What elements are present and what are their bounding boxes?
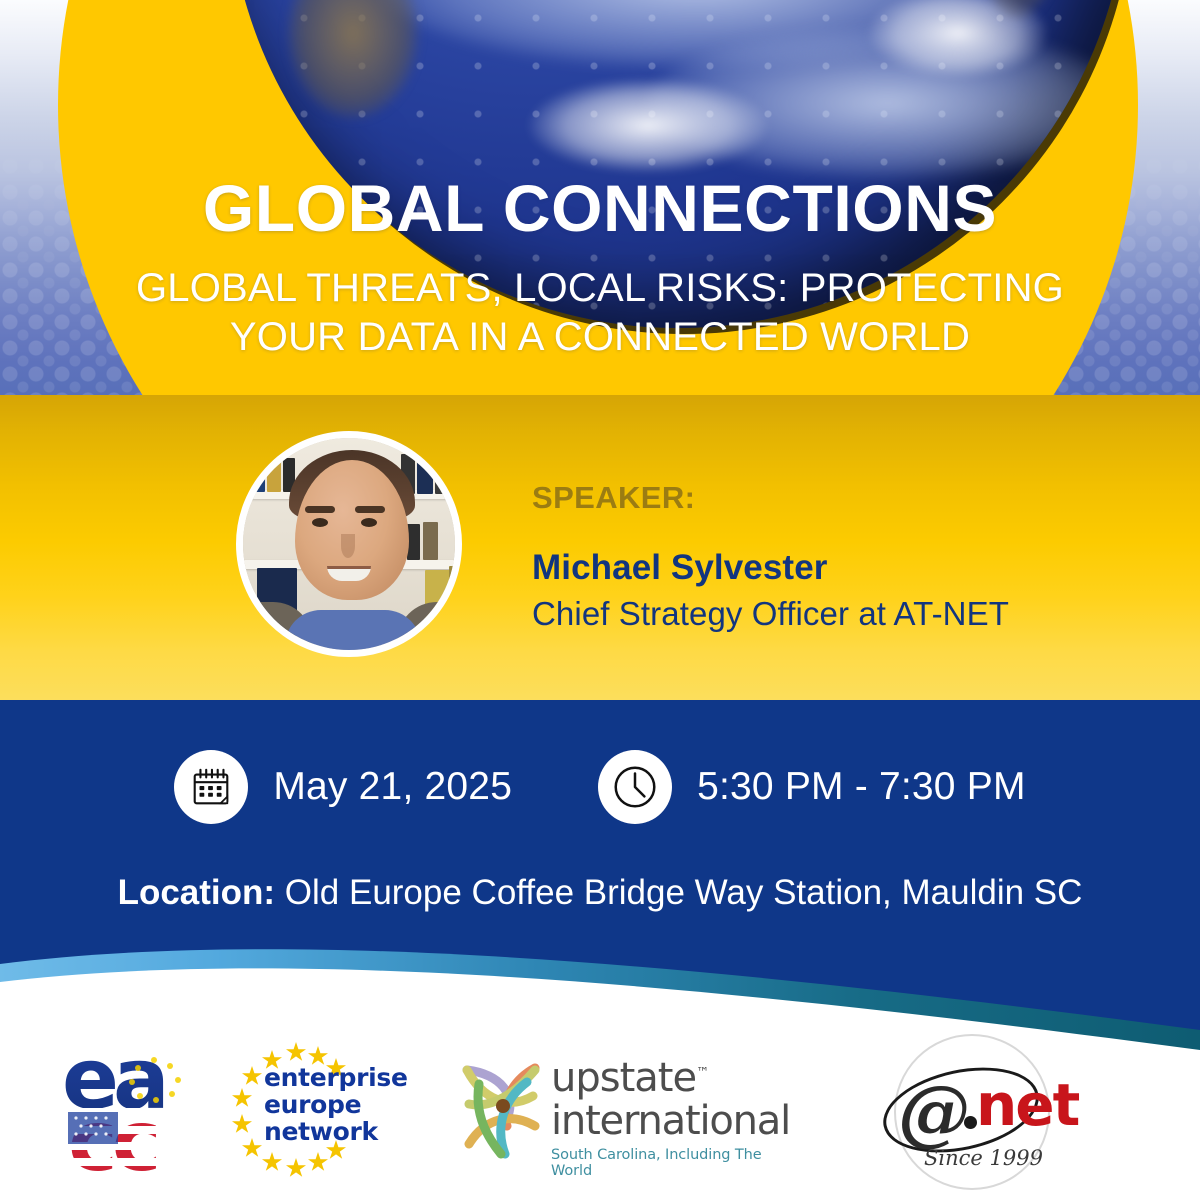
upstate-international-logo: upstate™ international South Carolina, I… xyxy=(455,1052,755,1170)
page-title: GLOBAL CONNECTIONS xyxy=(0,175,1200,242)
upstate-line-1: upstate™ xyxy=(551,1058,790,1098)
atnet-at-symbol: @ xyxy=(898,1076,970,1148)
page-subtitle-line1: GLOBAL THREATS, LOCAL RISKS: PROTECTING xyxy=(0,264,1200,313)
event-date-item: May 21, 2025 xyxy=(174,750,512,824)
event-poster: GLOBAL CONNECTIONS GLOBAL THREATS, LOCAL… xyxy=(0,0,1200,1200)
enterprise-europe-network-logo: enterprise europe network xyxy=(208,1038,388,1180)
event-time-item: 5:30 PM - 7:30 PM xyxy=(598,750,1026,824)
upstate-wordmark: upstate™ international South Carolina, I… xyxy=(551,1058,790,1179)
location-label: Location: xyxy=(118,873,275,912)
een-line-1: enterprise xyxy=(264,1064,408,1091)
event-location: Location: Old Europe Coffee Bridge Way S… xyxy=(0,873,1200,913)
at-net-logo: @ net Since 1999 xyxy=(872,1034,1122,1186)
een-line-2: europe xyxy=(264,1091,408,1118)
upstate-line-2: international xyxy=(551,1101,790,1141)
upstate-tagline: South Carolina, Including The World xyxy=(551,1147,790,1179)
calendar-icon xyxy=(174,750,248,824)
upstate-pinwheel-icon xyxy=(455,1056,547,1160)
atnet-net-wordmark: net xyxy=(976,1076,1078,1134)
een-line-3: network xyxy=(264,1118,408,1145)
eacc-logo: ea cc xyxy=(62,1046,202,1174)
speaker-name: Michael Sylvester xyxy=(532,548,1009,588)
speaker-role: Chief Strategy Officer at AT-NET xyxy=(532,595,1009,633)
partner-logos: ea cc xyxy=(0,1028,1200,1193)
atnet-since-text: Since 1999 xyxy=(924,1146,1043,1170)
event-date: May 21, 2025 xyxy=(273,765,512,809)
speaker-headshot-image xyxy=(243,438,455,650)
page-subtitle-line2: YOUR DATA IN A CONNECTED WORLD xyxy=(0,313,1200,362)
een-wordmark: enterprise europe network xyxy=(264,1064,408,1145)
page-subtitle: GLOBAL THREATS, LOCAL RISKS: PROTECTING … xyxy=(0,264,1200,362)
title-block: GLOBAL CONNECTIONS GLOBAL THREATS, LOCAL… xyxy=(0,175,1200,362)
event-time: 5:30 PM - 7:30 PM xyxy=(697,765,1026,809)
avatar xyxy=(236,431,462,657)
event-meta-row: May 21, 2025 5:30 PM - 7:30 PM xyxy=(0,750,1200,824)
location-value: Old Europe Coffee Bridge Way Station, Ma… xyxy=(285,873,1083,912)
speaker-label: SPEAKER: xyxy=(532,480,1009,516)
clock-icon xyxy=(598,750,672,824)
speaker-info: SPEAKER: Michael Sylvester Chief Strateg… xyxy=(532,480,1009,633)
